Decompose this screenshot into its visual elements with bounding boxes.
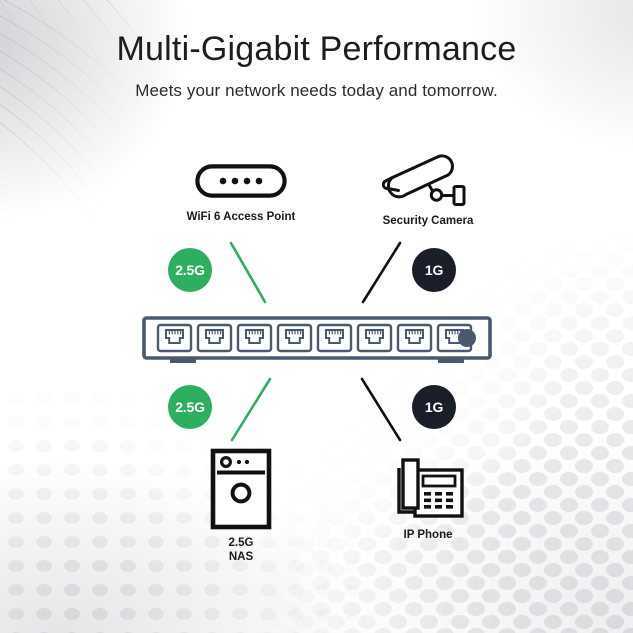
speed-badge-label: 1G <box>425 262 443 278</box>
device-label-security-camera: Security Camera <box>333 214 523 228</box>
switch-port-5 <box>318 325 351 351</box>
speed-badge-label: 1G <box>425 399 443 415</box>
connector-switch-to-phone <box>362 379 400 440</box>
device-ip-phone: IP Phone <box>333 452 523 542</box>
header-block: Multi-Gigabit Performance Meets your net… <box>0 30 633 101</box>
connector-ap-to-switch <box>231 243 265 302</box>
speed-badge-access-point: 2.5G <box>168 248 212 292</box>
page-title: Multi-Gigabit Performance <box>0 30 633 69</box>
device-icon-wrapper <box>141 158 341 204</box>
switch-port-2 <box>198 325 231 351</box>
switch-port-7 <box>398 325 431 351</box>
switch-port-4 <box>278 325 311 351</box>
device-icon-wrapper <box>333 452 523 522</box>
speed-badge-label: 2.5G <box>175 262 205 278</box>
network-switch-icon <box>142 316 492 368</box>
speed-badge-nas: 2.5G <box>168 385 212 429</box>
infographic-canvas: Multi-Gigabit Performance Meets your net… <box>0 0 633 633</box>
page-subtitle: Meets your network needs today and tomor… <box>0 81 633 101</box>
network-switch <box>142 316 492 373</box>
switch-port-1 <box>158 325 191 351</box>
device-nas: 2.5G NAS <box>141 448 341 564</box>
security-camera-icon <box>382 150 474 208</box>
speed-badge-ip-phone: 1G <box>412 385 456 429</box>
device-icon-wrapper <box>333 150 523 208</box>
switch-port-6 <box>358 325 391 351</box>
device-security-camera: Security Camera <box>333 150 523 228</box>
speed-badge-security-camera: 1G <box>412 248 456 292</box>
nas-icon <box>210 448 272 530</box>
device-label-access-point: WiFi 6 Access Point <box>141 210 341 224</box>
connector-camera-to-switch <box>363 243 400 302</box>
speed-badge-label: 2.5G <box>175 399 205 415</box>
device-label-ip-phone: IP Phone <box>333 528 523 542</box>
switch-status-led <box>458 329 476 347</box>
wifi-access-point-icon <box>195 164 287 198</box>
ip-phone-icon <box>391 454 465 520</box>
device-icon-wrapper <box>141 448 341 530</box>
connector-switch-to-nas <box>232 379 270 440</box>
device-label-nas: 2.5G NAS <box>141 536 341 564</box>
device-wifi-access-point: WiFi 6 Access Point <box>141 158 341 224</box>
switch-port-3 <box>238 325 271 351</box>
